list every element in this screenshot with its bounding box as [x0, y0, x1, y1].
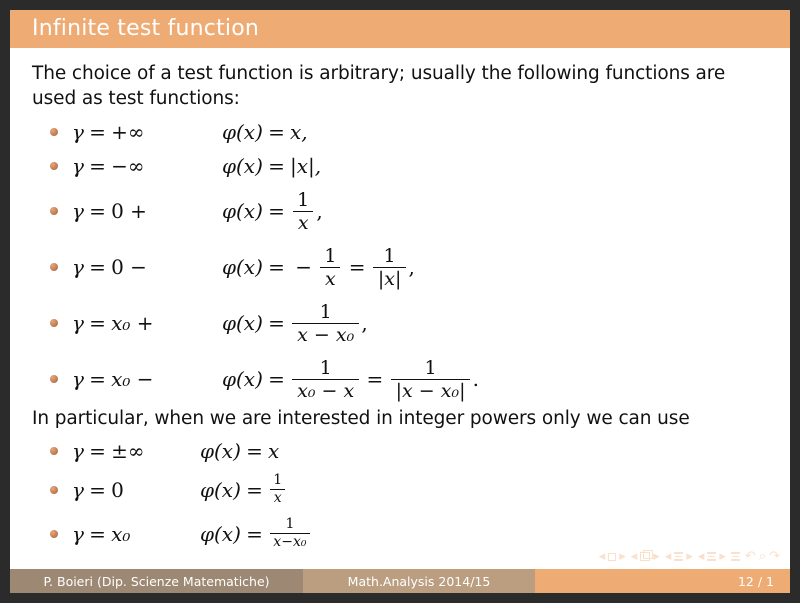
gamma-symbol: γ	[72, 367, 84, 391]
fraction-denominator: x − x₀	[292, 323, 359, 345]
phi-label: φ(x)	[222, 120, 263, 144]
back-arrow-icon[interactable]: ↶	[745, 550, 756, 563]
gamma-value: 0 +	[111, 199, 147, 223]
equals-sign: =	[246, 522, 263, 546]
function-expression: φ(x) = 1 x₀ − x = 1 |x − x₀| .	[222, 358, 479, 401]
fraction-denominator: x	[320, 267, 340, 289]
fraction-numerator: 1	[315, 302, 337, 323]
footer-page-number: 12 / 1	[535, 569, 790, 593]
triangle-left-icon[interactable]: ◂	[698, 550, 705, 563]
fraction-numerator: 1	[315, 358, 337, 379]
equals-sign: =	[89, 522, 106, 546]
triangle-right-icon[interactable]: ▸	[686, 550, 693, 563]
fraction: 1 x	[292, 190, 314, 233]
equals-sign: =	[89, 478, 106, 502]
phi-label: φ(x)	[200, 439, 241, 463]
minus-sign: −	[295, 255, 312, 279]
fraction: 1 x	[320, 246, 342, 289]
page-title: Infinite test function	[10, 18, 259, 40]
function-body: |x|,	[290, 154, 321, 178]
bullet-icon	[50, 207, 58, 215]
equals-sign: =	[89, 367, 106, 391]
list-item: γ = x₀ − φ(x) = 1 x₀ − x = 1	[48, 351, 764, 407]
condition-expression: γ = 0	[72, 478, 200, 502]
triangle-right-icon[interactable]: ▸	[619, 550, 626, 563]
nav-group-history[interactable]: ↶ ⌕ ↷	[745, 550, 780, 563]
triangle-left-icon[interactable]: ◂	[599, 550, 606, 563]
section-lines-icon[interactable]	[707, 552, 716, 561]
fraction-denominator: x−x₀	[270, 533, 310, 550]
nav-group-doc[interactable]	[731, 552, 740, 561]
frame-stack-icon[interactable]	[640, 552, 650, 561]
gamma-value: x₀ +	[111, 311, 153, 335]
equals-sign: =	[268, 311, 285, 335]
gamma-symbol: γ	[72, 478, 84, 502]
phi-label: φ(x)	[222, 255, 263, 279]
trailing-punctuation: ,	[409, 255, 415, 279]
fraction-denominator: x	[293, 211, 313, 233]
fraction-denominator: |x − x₀|	[391, 379, 470, 401]
condition-expression: γ = +∞	[72, 120, 222, 144]
footer-author: P. Boieri (Dip. Scienze Matematiche)	[10, 569, 303, 593]
equals-sign: =	[89, 311, 106, 335]
phi-label: φ(x)	[222, 199, 263, 223]
gamma-symbol: γ	[72, 439, 84, 463]
fraction-numerator: 1	[379, 246, 401, 267]
function-body: x,	[290, 120, 308, 144]
fraction-numerator: 1	[282, 517, 298, 533]
function-expression: φ(x) = 1 x	[200, 473, 288, 506]
trailing-punctuation: ,	[361, 311, 367, 335]
fraction-alt: 1 |x − x₀|	[391, 358, 470, 401]
nav-group-section[interactable]: ◂ ▸	[698, 550, 726, 563]
list-item: γ = 0 − φ(x) = − 1 x = 1	[48, 239, 764, 295]
bullet-icon	[50, 375, 58, 383]
gamma-value: x₀	[111, 522, 130, 546]
function-expression: φ(x) = 1 x ,	[222, 190, 323, 233]
fraction: 1 x₀ − x	[292, 358, 359, 401]
slide-square-icon[interactable]	[608, 553, 616, 561]
fraction-alt: 1 |x|	[373, 246, 406, 289]
beamer-navigation-bar[interactable]: ◂ ▸ ◂ ▸ ◂ ▸ ◂ ▸ ↶	[599, 550, 780, 563]
fraction-numerator: 1	[320, 246, 342, 267]
triangle-left-icon[interactable]: ◂	[631, 550, 638, 563]
condition-expression: γ = ±∞	[72, 439, 200, 463]
phi-label: φ(x)	[222, 311, 263, 335]
equals-sign: =	[268, 154, 285, 178]
equals-sign: =	[246, 439, 263, 463]
footer-course: Math.Analysis 2014/15	[303, 569, 535, 593]
condition-expression: γ = 0 −	[72, 255, 222, 279]
bullet-icon	[50, 263, 58, 271]
condition-expression: γ = 0 +	[72, 199, 222, 223]
gamma-symbol: γ	[72, 522, 84, 546]
function-expression: φ(x) = |x|,	[222, 154, 321, 178]
equals-sign: =	[89, 154, 106, 178]
function-expression: φ(x) = x	[200, 439, 279, 463]
gamma-value: +∞	[111, 120, 144, 144]
equals-sign: =	[268, 199, 285, 223]
test-function-list-primary: γ = +∞ φ(x) = x, γ = −∞	[32, 115, 764, 407]
function-expression: φ(x) = − 1 x = 1 |x| ,	[222, 246, 415, 289]
fraction: 1 x	[270, 473, 286, 506]
fraction-numerator: 1	[292, 190, 314, 211]
bullet-icon	[50, 486, 58, 494]
list-item: γ = −∞ φ(x) = |x|,	[48, 149, 764, 183]
equals-sign: =	[349, 255, 366, 279]
gamma-value: 0 −	[111, 255, 147, 279]
trailing-punctuation: ,	[316, 199, 322, 223]
condition-expression: γ = x₀	[72, 522, 200, 546]
fraction: 1 x − x₀	[292, 302, 359, 345]
bullet-icon	[50, 447, 58, 455]
list-item: γ = x₀ + φ(x) = 1 x − x₀ ,	[48, 295, 764, 351]
gamma-symbol: γ	[72, 199, 84, 223]
equals-sign: =	[268, 120, 285, 144]
phi-label: φ(x)	[200, 478, 241, 502]
forward-arrow-icon[interactable]: ↷	[769, 550, 780, 563]
function-expression: φ(x) = x,	[222, 120, 308, 144]
slide-title-bar: Infinite test function	[10, 10, 790, 48]
middle-paragraph: In particular, when we are interested in…	[32, 407, 764, 432]
triangle-right-icon[interactable]: ▸	[653, 550, 660, 563]
nav-group-subsection[interactable]: ◂ ▸	[665, 550, 693, 563]
fraction: 1 x−x₀	[270, 517, 310, 550]
fraction-denominator: x₀ − x	[292, 379, 359, 401]
slide-frame: Infinite test function The choice of a t…	[0, 0, 800, 603]
nav-group-frame[interactable]: ◂ ▸	[631, 550, 660, 563]
equals-sign: =	[89, 255, 106, 279]
fraction-numerator: 1	[270, 473, 286, 489]
subsection-lines-icon[interactable]	[674, 552, 683, 561]
gamma-symbol: γ	[72, 154, 84, 178]
equals-sign: =	[367, 367, 384, 391]
nav-group-slide[interactable]: ◂ ▸	[599, 550, 626, 563]
equals-sign: =	[89, 439, 106, 463]
phi-label: φ(x)	[222, 154, 263, 178]
document-lines-icon[interactable]	[731, 552, 740, 561]
phi-label: φ(x)	[222, 367, 263, 391]
slide-body: The choice of a test function is arbitra…	[10, 48, 790, 555]
list-item: γ = +∞ φ(x) = x,	[48, 115, 764, 149]
list-item: γ = 0 φ(x) = 1 x	[48, 468, 764, 512]
condition-expression: γ = x₀ −	[72, 367, 222, 391]
triangle-left-icon[interactable]: ◂	[665, 550, 672, 563]
function-expression: φ(x) = 1 x−x₀	[200, 517, 312, 550]
fraction-denominator: |x|	[373, 267, 406, 289]
equals-sign: =	[89, 120, 106, 144]
list-item: γ = 0 + φ(x) = 1 x ,	[48, 183, 764, 239]
equals-sign: =	[246, 478, 263, 502]
gamma-value: x₀ −	[111, 367, 153, 391]
bullet-icon	[50, 162, 58, 170]
fraction-denominator: x	[270, 489, 285, 506]
function-expression: φ(x) = 1 x − x₀ ,	[222, 302, 368, 345]
gamma-value: −∞	[111, 154, 144, 178]
bullet-icon	[50, 319, 58, 327]
gamma-symbol: γ	[72, 120, 84, 144]
bullet-icon	[50, 128, 58, 136]
condition-expression: γ = x₀ +	[72, 311, 222, 335]
function-body: x	[268, 439, 279, 463]
gamma-symbol: γ	[72, 311, 84, 335]
condition-expression: γ = −∞	[72, 154, 222, 178]
gamma-symbol: γ	[72, 255, 84, 279]
test-function-list-integer-powers: γ = ±∞ φ(x) = x γ = 0	[32, 434, 764, 556]
equals-sign: =	[268, 367, 285, 391]
slide-footer: P. Boieri (Dip. Scienze Matematiche) Mat…	[10, 569, 790, 593]
equals-sign: =	[89, 199, 106, 223]
phi-label: φ(x)	[200, 522, 241, 546]
trailing-punctuation: .	[473, 367, 479, 391]
intro-paragraph: The choice of a test function is arbitra…	[32, 62, 764, 111]
gamma-value: 0	[111, 478, 124, 502]
fraction-numerator: 1	[420, 358, 442, 379]
gamma-value: ±∞	[111, 439, 144, 463]
triangle-right-icon[interactable]: ▸	[719, 550, 726, 563]
search-icon[interactable]: ⌕	[759, 550, 766, 563]
list-item: γ = ±∞ φ(x) = x	[48, 434, 764, 468]
equals-sign: =	[268, 255, 285, 279]
bullet-icon	[50, 530, 58, 538]
slide-canvas: Infinite test function The choice of a t…	[10, 10, 790, 593]
